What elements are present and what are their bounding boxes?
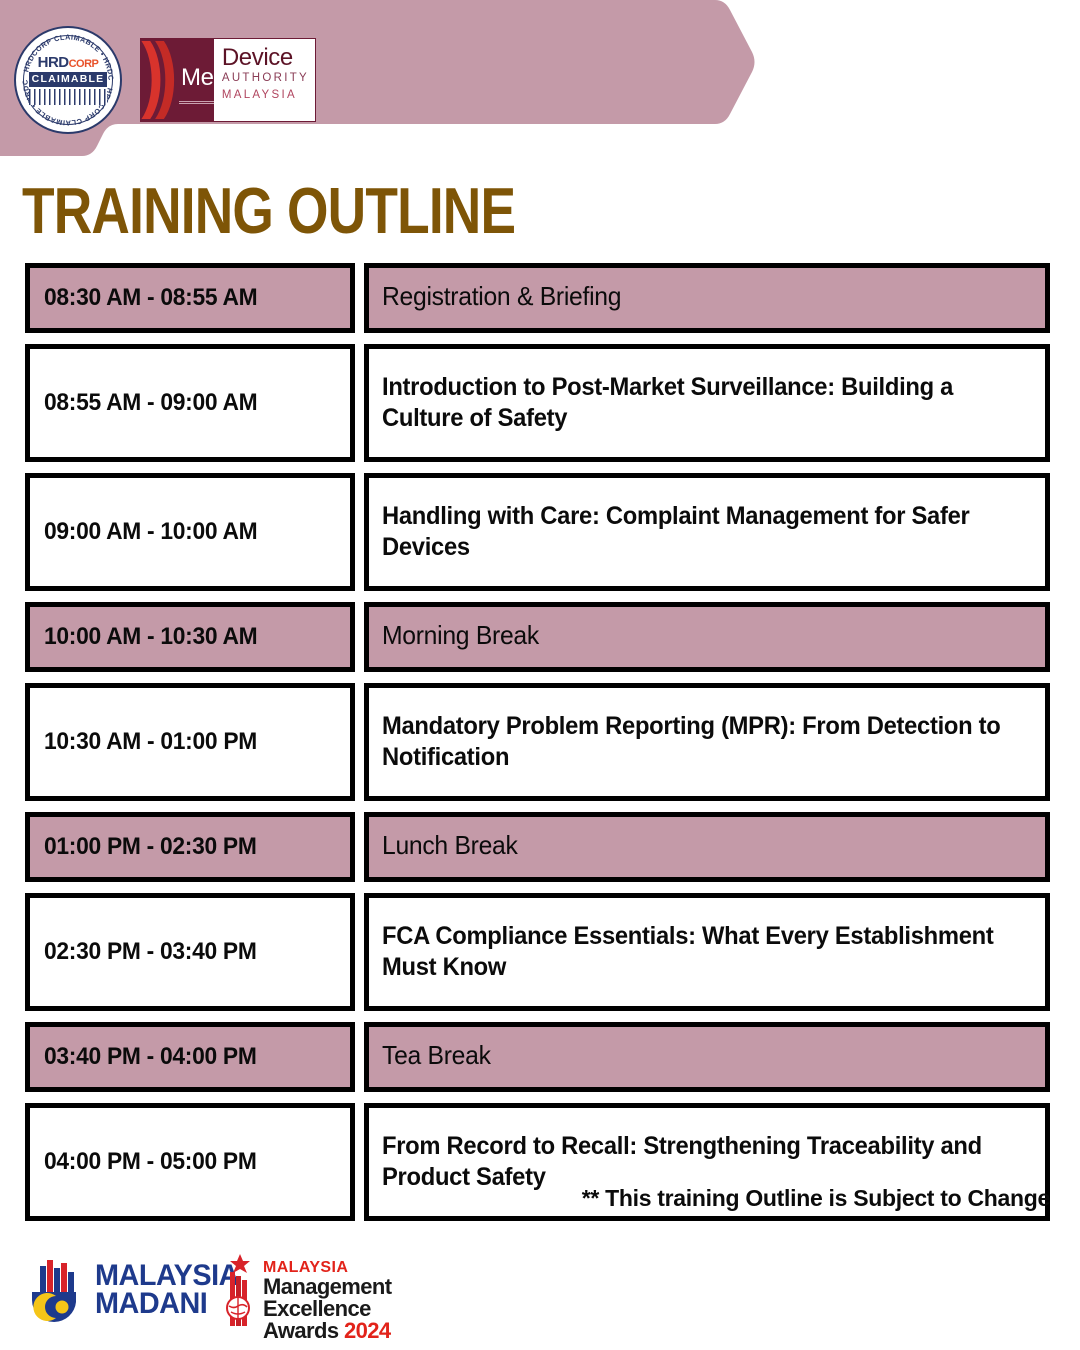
time-label: 02:30 PM - 03:40 PM bbox=[44, 938, 257, 966]
time-cell: 01:00 PM - 02:30 PM bbox=[25, 812, 355, 882]
hrd-barcode-lines bbox=[29, 89, 107, 105]
malaysia-madani-logo: MALAYSIA MADANI bbox=[26, 1258, 245, 1322]
session-cell: Introduction to Post-Market Surveillance… bbox=[364, 344, 1050, 462]
time-cell: 09:00 AM - 10:00 AM bbox=[25, 473, 355, 591]
training-outline-poster: HRDCORP CLAIMABLE • HRDCORP CLAIMABLE HR… bbox=[0, 0, 1080, 1350]
hrd-wordmark: HRDCORP bbox=[29, 55, 107, 70]
awards-wordmark: MALAYSIA Management Excellence Awards 20… bbox=[263, 1254, 391, 1342]
table-row: 03:40 PM - 04:00 PMTea Break bbox=[25, 1022, 1050, 1092]
time-cell: 08:55 AM - 09:00 AM bbox=[25, 344, 355, 462]
time-label: 08:55 AM - 09:00 AM bbox=[44, 389, 257, 417]
session-label: Registration & Briefing bbox=[382, 280, 621, 313]
time-label: 09:00 AM - 10:00 AM bbox=[44, 518, 257, 546]
training-schedule-table: 08:30 AM - 08:55 AMRegistration & Briefi… bbox=[25, 263, 1050, 1232]
session-cell: Handling with Care: Complaint Management… bbox=[364, 473, 1050, 591]
session-cell: Tea Break bbox=[364, 1022, 1050, 1092]
session-cell: Morning Break bbox=[364, 602, 1050, 672]
mda-left-panel: Medical bbox=[141, 39, 214, 121]
time-cell: 03:40 PM - 04:00 PM bbox=[25, 1022, 355, 1092]
time-cell: 02:30 PM - 03:40 PM bbox=[25, 893, 355, 1011]
session-label: Tea Break bbox=[382, 1039, 491, 1072]
management-excellence-awards-logo: MALAYSIA Management Excellence Awards 20… bbox=[222, 1254, 391, 1342]
table-row: 10:00 AM - 10:30 AMMorning Break bbox=[25, 602, 1050, 672]
time-label: 01:00 PM - 02:30 PM bbox=[44, 833, 257, 861]
table-row: 09:00 AM - 10:00 AMHandling with Care: C… bbox=[25, 473, 1050, 591]
mda-authority-word: AUTHORITY bbox=[222, 72, 309, 84]
session-cell: FCA Compliance Essentials: What Every Es… bbox=[364, 893, 1050, 1011]
hrd-claimable-bar: CLAIMABLE bbox=[29, 72, 107, 87]
footer: MALAYSIA MADANI MALAYSIA Management Exce… bbox=[0, 1250, 1080, 1350]
medical-device-authority-logo: Medical Device AUTHORITY MALAYSIA bbox=[140, 38, 316, 122]
session-label: FCA Compliance Essentials: What Every Es… bbox=[382, 921, 1002, 984]
header-logos: HRDCORP CLAIMABLE • HRDCORP CLAIMABLE HR… bbox=[0, 0, 1080, 160]
session-label: From Record to Recall: Strengthening Tra… bbox=[382, 1131, 1002, 1194]
time-label: 03:40 PM - 04:00 PM bbox=[44, 1043, 257, 1071]
time-label: 08:30 AM - 08:55 AM bbox=[44, 284, 257, 312]
session-cell: Lunch Break bbox=[364, 812, 1050, 882]
session-cell: Registration & Briefing bbox=[364, 263, 1050, 333]
page-title: TRAINING OUTLINE bbox=[22, 178, 515, 243]
mda-right-panel: Device AUTHORITY MALAYSIA bbox=[214, 39, 315, 121]
session-label: Mandatory Problem Reporting (MPR): From … bbox=[382, 711, 1002, 774]
table-row: 01:00 PM - 02:30 PMLunch Break bbox=[25, 812, 1050, 882]
time-label: 04:00 PM - 05:00 PM bbox=[44, 1148, 257, 1176]
mda-chevron-icon bbox=[141, 39, 181, 121]
table-row: 10:30 AM - 01:00 PMMandatory Problem Rep… bbox=[25, 683, 1050, 801]
session-label: Morning Break bbox=[382, 619, 539, 652]
mda-device-word: Device bbox=[222, 46, 309, 70]
table-row: 08:30 AM - 08:55 AMRegistration & Briefi… bbox=[25, 263, 1050, 333]
mda-divider-line bbox=[179, 101, 214, 104]
disclaimer-note: ** This training Outline is Subject to C… bbox=[582, 1185, 1050, 1212]
table-row: 08:55 AM - 09:00 AMIntroduction to Post-… bbox=[25, 344, 1050, 462]
hrd-corp-claimable-seal: HRDCORP CLAIMABLE • HRDCORP CLAIMABLE HR… bbox=[14, 26, 122, 134]
awards-year-line: Awards 2024 bbox=[263, 1320, 391, 1342]
time-label: 10:30 AM - 01:00 PM bbox=[44, 728, 257, 756]
session-label: Introduction to Post-Market Surveillance… bbox=[382, 372, 1002, 435]
time-cell: 04:00 PM - 05:00 PM bbox=[25, 1103, 355, 1221]
awards-star-trophy-icon bbox=[222, 1254, 258, 1326]
time-cell: 10:30 AM - 01:00 PM bbox=[25, 683, 355, 801]
mda-medical-word: Medical bbox=[181, 64, 214, 92]
time-cell: 08:30 AM - 08:55 AM bbox=[25, 263, 355, 333]
mda-malaysia-word: MALAYSIA bbox=[222, 89, 309, 101]
session-label: Lunch Break bbox=[382, 829, 518, 862]
time-label: 10:00 AM - 10:30 AM bbox=[44, 623, 257, 651]
table-row: 02:30 PM - 03:40 PMFCA Compliance Essent… bbox=[25, 893, 1050, 1011]
session-label: Handling with Care: Complaint Management… bbox=[382, 501, 1002, 564]
time-cell: 10:00 AM - 10:30 AM bbox=[25, 602, 355, 672]
madani-wordmark: MALAYSIA MADANI bbox=[95, 1262, 239, 1317]
madani-crescent-buildings-icon bbox=[26, 1258, 88, 1322]
session-cell: Mandatory Problem Reporting (MPR): From … bbox=[364, 683, 1050, 801]
